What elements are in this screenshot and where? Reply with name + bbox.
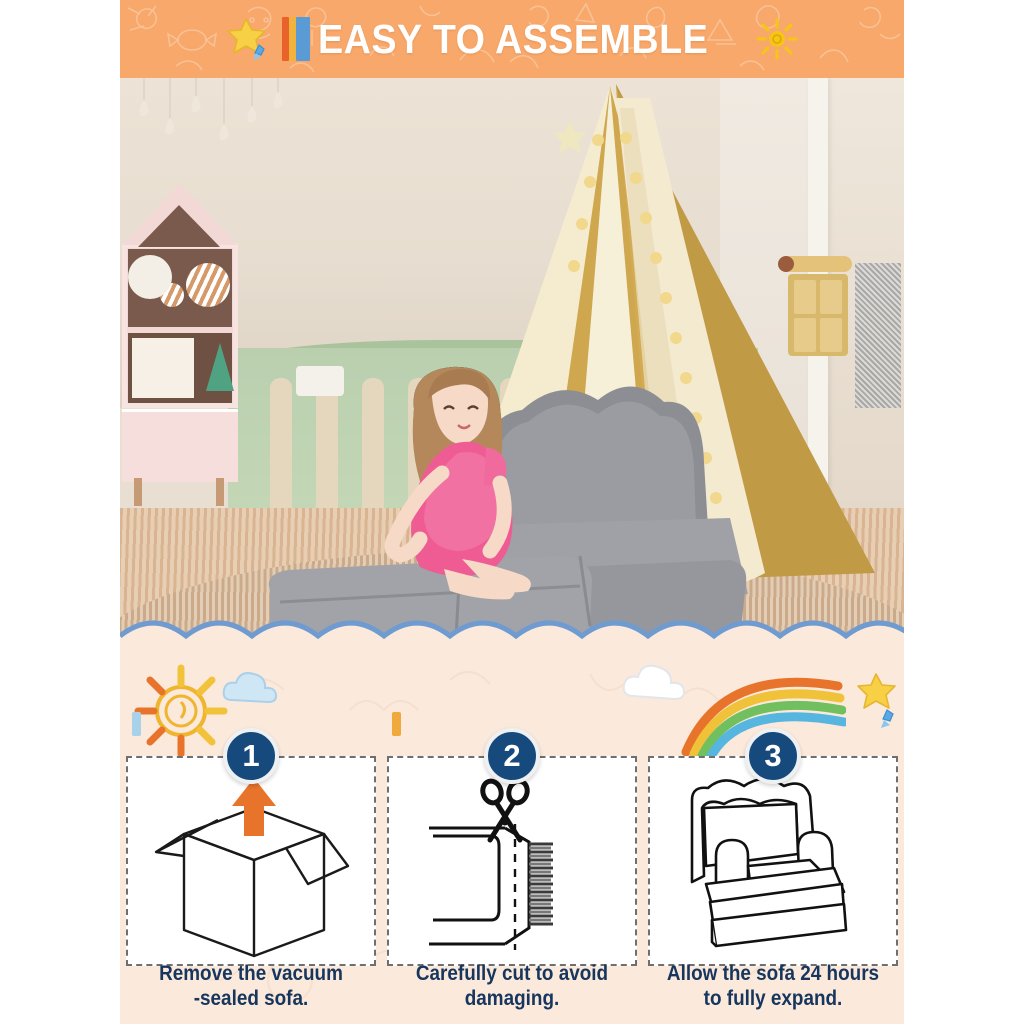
step-2-badge: 2 [484,728,540,784]
step-3-caption-line2: to fully expand. [661,987,886,1012]
banner-content: EASY TO ASSEMBLE [120,0,904,78]
content-area: EASY TO ASSEMBLE [120,0,904,1024]
step-1-caption-line2: -sealed sofa. [139,987,364,1012]
step-1-caption-line1: Remove the vacuum [139,962,364,987]
assembly-steps-section: 1 [120,650,904,1024]
step-captions-row: Remove the vacuum -sealed sofa. Carefull… [120,962,904,1012]
up-arrow-icon [232,778,276,836]
sun-icon [756,18,798,60]
step-2-caption: Carefully cut to avoid damaging. [400,962,625,1012]
step-3[interactable]: 3 [648,728,898,958]
lifestyle-photo [120,78,904,650]
star-icon [226,15,274,63]
accent-bar-blue [296,17,310,61]
step-2-caption-line1: Carefully cut to avoid [400,962,625,987]
step-3-badge: 3 [745,728,801,784]
expanded-sofa-icon [648,756,898,966]
step-1-caption: Remove the vacuum -sealed sofa. [139,962,364,1012]
open-box-icon [126,756,376,966]
star-doodle [854,670,904,734]
accent-bar-yellow [289,17,296,61]
step-1-badge: 1 [223,728,279,784]
title-accent-bars [282,16,310,62]
accent-bar-orange [282,17,289,61]
hanging-mobile-decor [130,78,300,198]
child-figure [370,363,580,623]
steps-row: 1 [120,728,904,958]
house-shelf [120,183,238,413]
step-2[interactable]: 2 [387,728,637,958]
header-banner: EASY TO ASSEMBLE [120,0,904,78]
step-1[interactable]: 1 [126,728,376,958]
step-2-caption-line2: damaging. [400,987,625,1012]
step-3-caption-line1: Allow the sofa 24 hours [661,962,886,987]
scallop-wave-divider [120,618,904,650]
product-infographic-page: EASY TO ASSEMBLE [0,0,1024,1024]
cloud-doodle [220,666,290,710]
scissors-cut-icon [387,756,637,966]
banner-title: EASY TO ASSEMBLE [318,16,708,63]
step-3-caption: Allow the sofa 24 hours to fully expand. [661,962,886,1012]
